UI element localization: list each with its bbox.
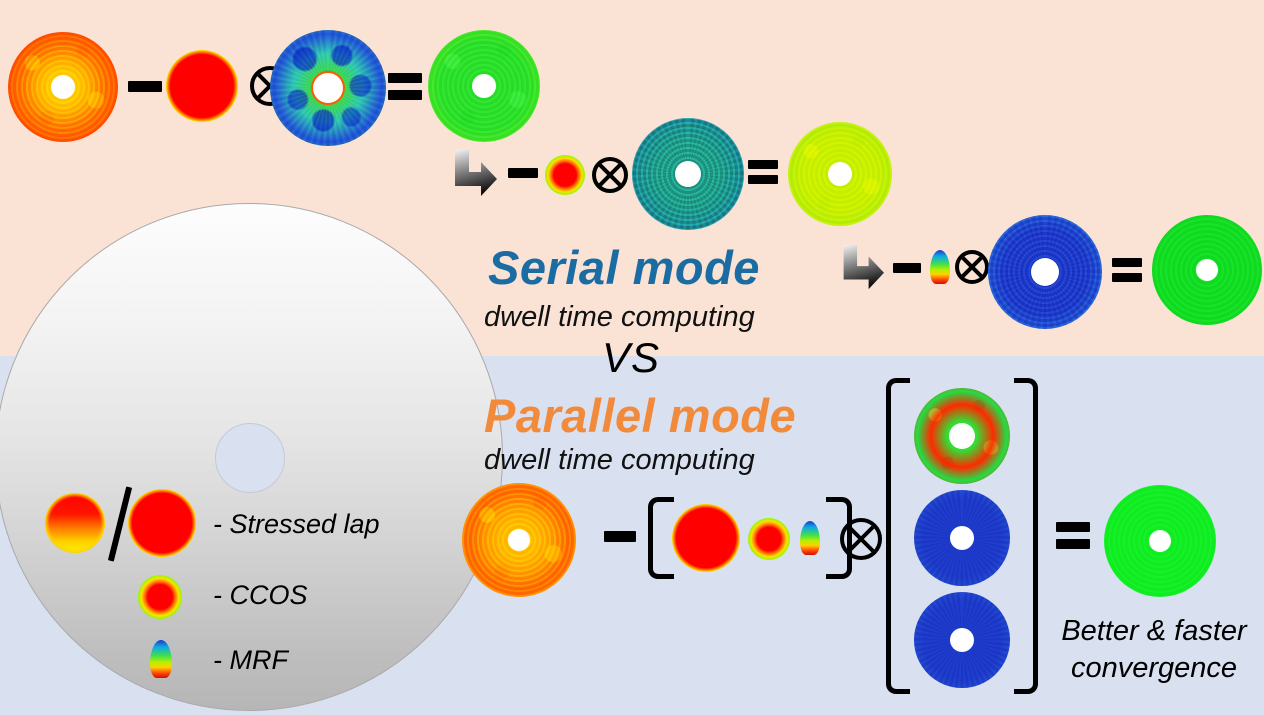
parallel-mode-title: Parallel mode [484, 388, 796, 443]
equals-operator-row3 [1112, 258, 1142, 282]
equals-bar-bottom [748, 175, 778, 184]
legend-label-ccos: - CCOS [213, 580, 308, 611]
residual-error-map-3 [1152, 215, 1262, 325]
convolution-operator-row3 [955, 250, 989, 284]
equals-bar-top [748, 160, 778, 169]
conclusion-line-2: convergence [1044, 652, 1264, 684]
figure-canvas: Serial mode dwell time computing VS Para… [0, 0, 1264, 715]
versus-label: VS [602, 334, 660, 382]
map-center-hole [508, 529, 530, 551]
parallel-dwell-time-map-lap [914, 388, 1010, 484]
serial-mode-title: Serial mode [488, 240, 760, 295]
residual-error-map-2 [788, 122, 892, 226]
dwell-map-bracket-left [886, 378, 910, 694]
equals-bar-bottom [388, 90, 422, 100]
stressed-lap-icon-flat [128, 489, 196, 557]
curved-arrow-row2 [443, 148, 499, 200]
minus-operator-row3 [893, 263, 921, 273]
map-center-hole [472, 74, 496, 98]
map-center-hole [1149, 530, 1171, 552]
equals-operator-row1 [388, 73, 422, 99]
parallel-dwell-time-map-mrf [914, 592, 1010, 688]
map-center-hole [313, 73, 343, 103]
equals-operator-parallel [1056, 522, 1090, 548]
convolution-operator-row2 [592, 157, 628, 193]
tool-bracket-left [648, 497, 674, 579]
residual-error-map-1 [428, 30, 540, 142]
map-center-hole [949, 423, 975, 449]
legend-label-stressed-lap: - Stressed lap [213, 509, 380, 540]
parallel-stressed-lap-tool [672, 504, 740, 572]
mrf-tool-row3 [930, 250, 950, 284]
convolution-operator-parallel [840, 518, 882, 560]
ccos-icon [138, 575, 182, 619]
curved-arrow-icon [832, 243, 886, 293]
minus-operator-parallel [604, 531, 636, 542]
map-center-hole [828, 162, 852, 186]
optic-substrate-disc-hole [215, 423, 285, 493]
map-center-hole [1196, 259, 1218, 281]
dwell-time-map-2 [632, 118, 744, 230]
minus-operator-row1 [128, 81, 162, 92]
equals-bar-bottom [1112, 273, 1142, 282]
legend-label-mrf: - MRF [213, 645, 288, 676]
dwell-time-map-3 [988, 215, 1102, 329]
conclusion-line-1: Better & faster [1044, 615, 1264, 647]
parallel-mrf-tool [800, 521, 820, 555]
curved-arrow-row3 [832, 243, 886, 293]
map-center-hole [675, 161, 701, 187]
ccos-tool-row2 [545, 155, 585, 195]
map-center-hole [1031, 258, 1059, 286]
serial-mode-subtitle: dwell time computing [484, 301, 755, 334]
parallel-ccos-tool [748, 518, 790, 560]
dwell-time-map-1 [270, 30, 386, 146]
minus-operator-row2 [508, 168, 538, 178]
equals-bar-top [1056, 522, 1090, 532]
equals-bar-bottom [1056, 539, 1090, 549]
map-center-hole [950, 628, 974, 652]
map-center-hole [51, 75, 75, 99]
curved-arrow-icon [443, 148, 499, 200]
dwell-map-bracket-right [1014, 378, 1038, 694]
equals-bar-top [388, 73, 422, 83]
map-center-hole [950, 526, 974, 550]
equals-operator-row2 [748, 160, 778, 184]
parallel-mode-subtitle: dwell time computing [484, 444, 755, 477]
stressed-lap-tool-row1 [166, 50, 238, 122]
parallel-dwell-time-map-ccos [914, 490, 1010, 586]
initial-surface-error-map [8, 32, 118, 142]
stressed-lap-icon-gradient [45, 493, 105, 553]
parallel-converged-residual-map [1104, 485, 1216, 597]
parallel-initial-surface-error-map [462, 483, 576, 597]
equals-bar-top [1112, 258, 1142, 267]
